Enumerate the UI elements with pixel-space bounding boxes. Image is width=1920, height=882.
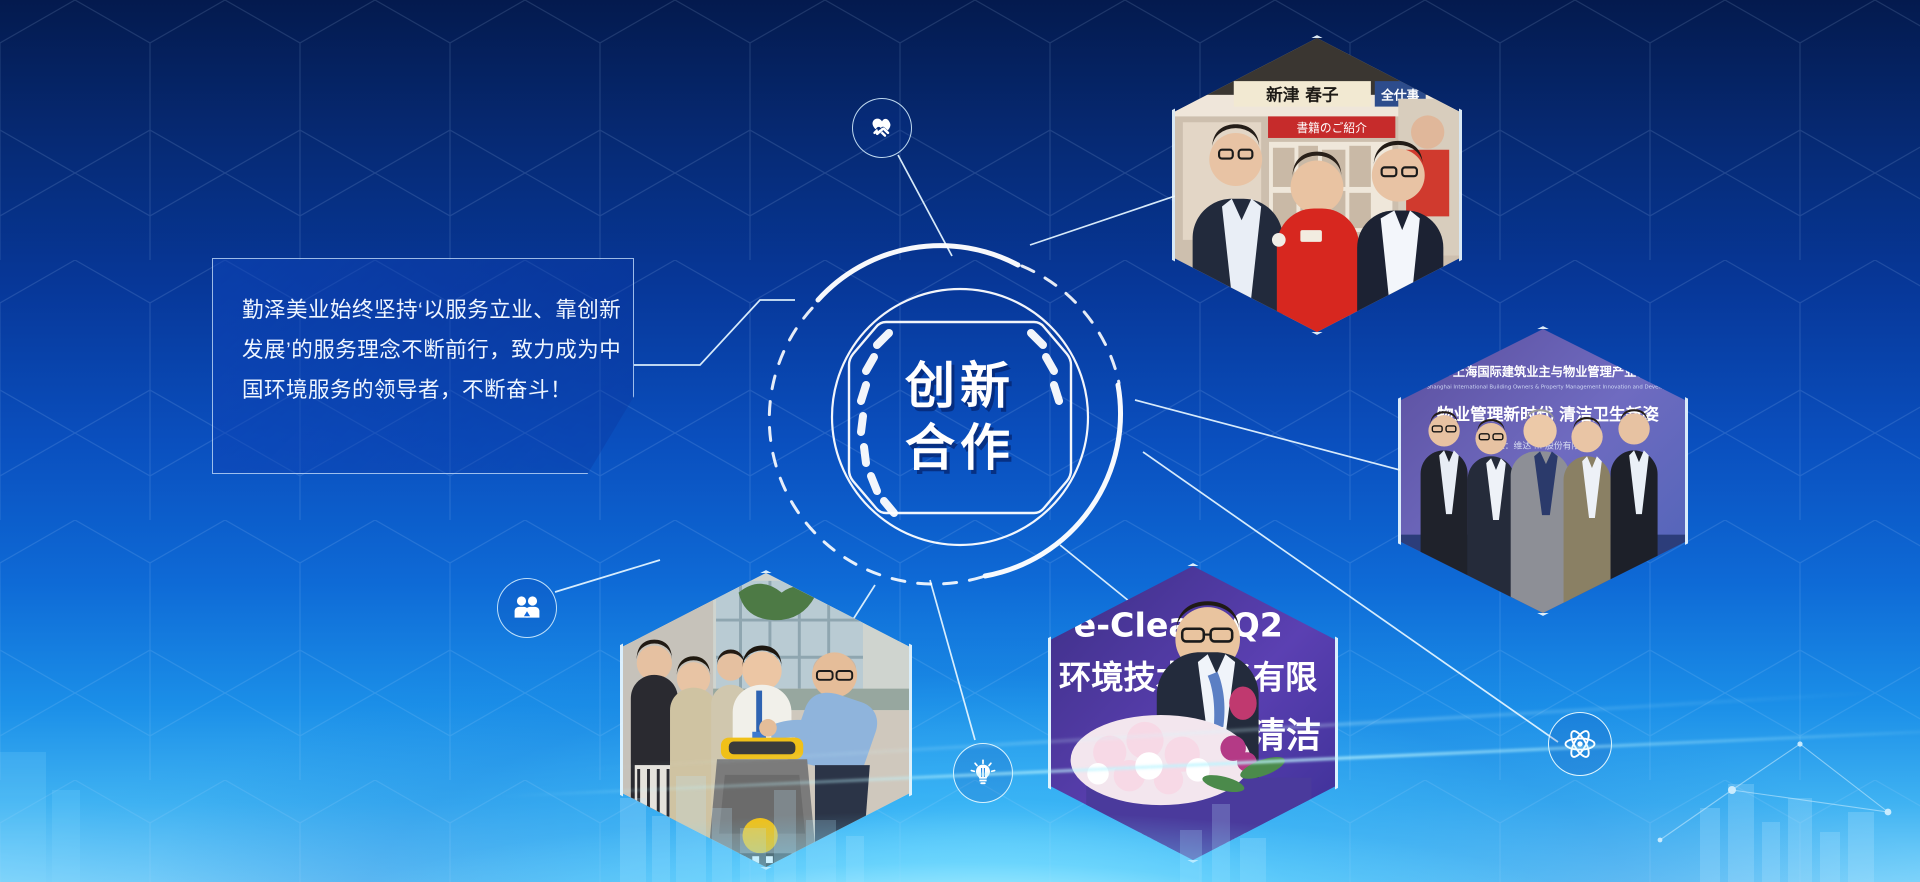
badge-handshake[interactable] xyxy=(852,98,912,158)
svg-text:書籍のご紹介: 書籍のご紹介 xyxy=(1296,121,1367,135)
center-hub: 创新 合作 xyxy=(795,252,1125,582)
city-skyline xyxy=(0,712,1920,882)
handshake-heart-icon xyxy=(866,112,898,144)
svg-text:2019 Shanghai International Bu: 2019 Shanghai International Building Own… xyxy=(1411,385,1680,391)
quote-callout-text: 勤泽美业始终坚持‘以服务立业、靠创新发展’的服务理念不断前行，致力成为中国环境服… xyxy=(242,290,640,410)
badge-people[interactable] xyxy=(497,578,557,638)
hub-line-1: 创新 xyxy=(905,355,1015,417)
banner-stage: 勤泽美业始终坚持‘以服务立业、靠创新发展’的服务理念不断前行，致力成为中国环境服… xyxy=(0,0,1920,882)
svg-text:新津 春子: 新津 春子 xyxy=(1266,85,1339,105)
two-people-icon xyxy=(511,593,543,623)
hub-line-2: 合作 xyxy=(905,417,1015,479)
center-hub-label: 创新 合作 xyxy=(795,252,1125,582)
